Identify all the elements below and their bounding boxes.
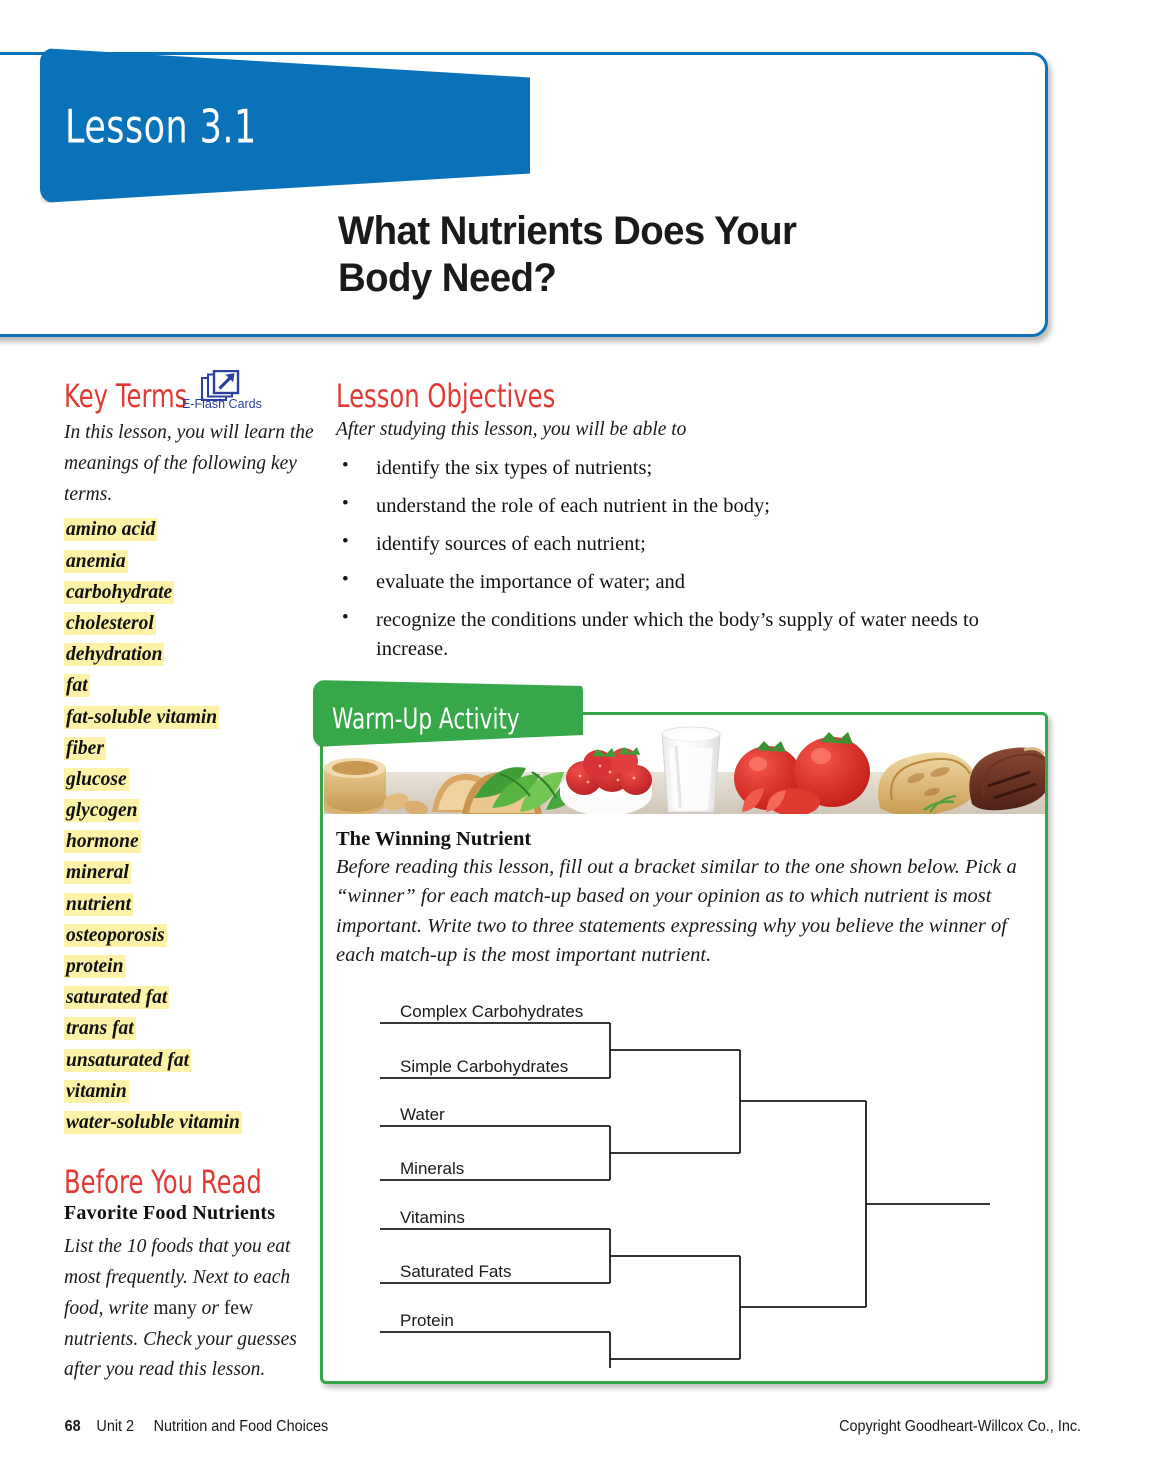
key-term-text: anemia (64, 550, 128, 573)
key-term-item: hormone (64, 826, 314, 857)
objective-item: •evaluate the importance of water; and (336, 568, 1026, 597)
objective-text: evaluate the importance of water; and (376, 571, 685, 593)
key-term-text: osteoporosis (64, 924, 167, 947)
key-term-text: fiber (64, 737, 106, 760)
objective-item: •understand the role of each nutrient in… (336, 492, 1026, 521)
page-title-line-2: Body Need? (338, 255, 952, 302)
key-term-item: amino acid (64, 514, 314, 545)
key-term-text: carbohydrate (64, 581, 174, 604)
warm-up-activity-content: The Winning Nutrient Before reading this… (336, 828, 1036, 970)
before-you-read-body: List the 10 foods that you eat most freq… (64, 1232, 314, 1386)
key-term-item: trans fat (64, 1013, 314, 1044)
objective-item: •recognize the conditions under which th… (336, 606, 1026, 664)
bracket-entry-label: Minerals (400, 1159, 464, 1178)
bullet-icon: • (342, 605, 349, 632)
copyright-notice: Copyright Goodheart-Willcox Co., Inc. (839, 1418, 1081, 1436)
tournament-bracket: Complex Carbohydrates Simple Carbohydrat… (336, 968, 1036, 1368)
key-term-text: fat-soluble vitamin (64, 706, 219, 729)
lesson-objectives-list: •identify the six types of nutrients; •u… (336, 454, 1026, 665)
key-term-item: fat-soluble vitamin (64, 702, 314, 733)
bodytext-emphasis-many: many (153, 1298, 196, 1319)
key-term-text: protein (64, 955, 125, 978)
key-term-item: cholesterol (64, 608, 314, 639)
key-term-item: nutrient (64, 889, 314, 920)
footer-unit-title: Nutrition and Food Choices (153, 1418, 328, 1436)
key-term-item: protein (64, 951, 314, 982)
key-terms-list: amino acid anemia carbohydrate cholester… (64, 514, 314, 1138)
key-terms-header-row: Key Terms E-Flash Cards (64, 378, 314, 414)
key-term-item: vitamin (64, 1076, 314, 1107)
winning-nutrient-body: Before reading this lesson, fill out a b… (336, 853, 1036, 970)
bracket-entry-label: Complex Carbohydrates (400, 1002, 583, 1021)
key-term-text: fat (64, 674, 90, 697)
before-you-read-heading: Before You Read (64, 1164, 262, 1201)
lesson-objectives-intro: After studying this lesson, you will be … (336, 415, 1026, 446)
page-title-line-1: What Nutrients Does Your (338, 208, 952, 255)
e-flash-cards-link[interactable]: E-Flash Cards (182, 370, 312, 416)
objective-item: •identify sources of each nutrient; (336, 530, 1026, 559)
bracket-entry-label: Protein (400, 1311, 454, 1330)
key-term-text: glucose (64, 768, 129, 791)
lesson-objectives-heading: Lesson Objectives (336, 378, 555, 415)
key-term-text: water-soluble vitamin (64, 1111, 242, 1134)
winning-nutrient-title: The Winning Nutrient (336, 828, 1036, 851)
key-term-item: carbohydrate (64, 577, 314, 608)
bullet-icon: • (342, 491, 349, 518)
footer-unit: Unit 2 (97, 1418, 135, 1436)
bullet-icon: • (342, 529, 349, 556)
bodytext-part-3: nutrients. Check your guesses after you … (64, 1329, 297, 1381)
key-term-text: mineral (64, 861, 131, 884)
objective-text: identify the six types of nutrients; (376, 457, 652, 479)
bracket-entry-label: Unsaturated Fats (400, 1365, 530, 1368)
bracket-entry-label: Saturated Fats (400, 1262, 512, 1281)
bracket-entry-label: Simple Carbohydrates (400, 1057, 568, 1076)
key-term-text: dehydration (64, 643, 164, 666)
left-column: Key Terms E-Flash Cards In this lesson, … (64, 378, 314, 1386)
bracket-entry-label: Water (400, 1105, 445, 1124)
lesson-number-label: Lesson 3.1 (65, 100, 257, 154)
key-term-text: glycogen (64, 799, 139, 822)
objective-item: •identify the six types of nutrients; (336, 454, 1026, 483)
key-term-item: mineral (64, 857, 314, 888)
key-term-item: unsaturated fat (64, 1045, 314, 1076)
page-footer: 68 Unit 2 Nutrition and Food Choices Cop… (64, 1418, 1090, 1436)
bullet-icon: • (342, 453, 349, 480)
key-term-text: vitamin (64, 1080, 129, 1103)
key-term-item: osteoporosis (64, 920, 314, 951)
key-term-item: anemia (64, 546, 314, 577)
lesson-objectives-section: Lesson Objectives After studying this le… (336, 378, 1026, 673)
bullet-icon: • (342, 567, 349, 594)
key-term-item: dehydration (64, 639, 314, 670)
bracket-entry-label: Vitamins (400, 1208, 465, 1227)
key-term-item: glucose (64, 764, 314, 795)
key-terms-heading: Key Terms (64, 378, 187, 415)
key-term-text: trans fat (64, 1017, 136, 1040)
key-term-item: saturated fat (64, 982, 314, 1013)
key-terms-intro: In this lesson, you will learn the meani… (64, 418, 314, 510)
page-number: 68 (65, 1418, 81, 1436)
key-term-text: unsaturated fat (64, 1049, 191, 1072)
key-term-text: cholesterol (64, 612, 156, 635)
key-term-text: saturated fat (64, 986, 169, 1009)
objective-text: identify sources of each nutrient; (376, 533, 646, 555)
bodytext-emphasis-few: few (224, 1298, 253, 1319)
page-title: What Nutrients Does Your Body Need? (338, 208, 952, 302)
objective-text: recognize the conditions under which the… (376, 609, 979, 660)
key-term-text: nutrient (64, 893, 133, 916)
favorite-food-nutrients-subheading: Favorite Food Nutrients (64, 1202, 314, 1225)
key-term-item: glycogen (64, 795, 314, 826)
key-term-item: fiber (64, 733, 314, 764)
e-flash-cards-label[interactable]: E-Flash Cards (182, 397, 262, 411)
key-term-item: water-soluble vitamin (64, 1107, 314, 1138)
footer-left: 68 Unit 2 Nutrition and Food Choices (64, 1418, 335, 1436)
warm-up-activity-label: Warm-Up Activity (332, 702, 520, 736)
objective-text: understand the role of each nutrient in … (376, 495, 770, 517)
key-term-text: hormone (64, 830, 141, 853)
key-term-text: amino acid (64, 518, 157, 541)
bodytext-part-2: or (197, 1298, 224, 1319)
key-term-item: fat (64, 670, 314, 701)
